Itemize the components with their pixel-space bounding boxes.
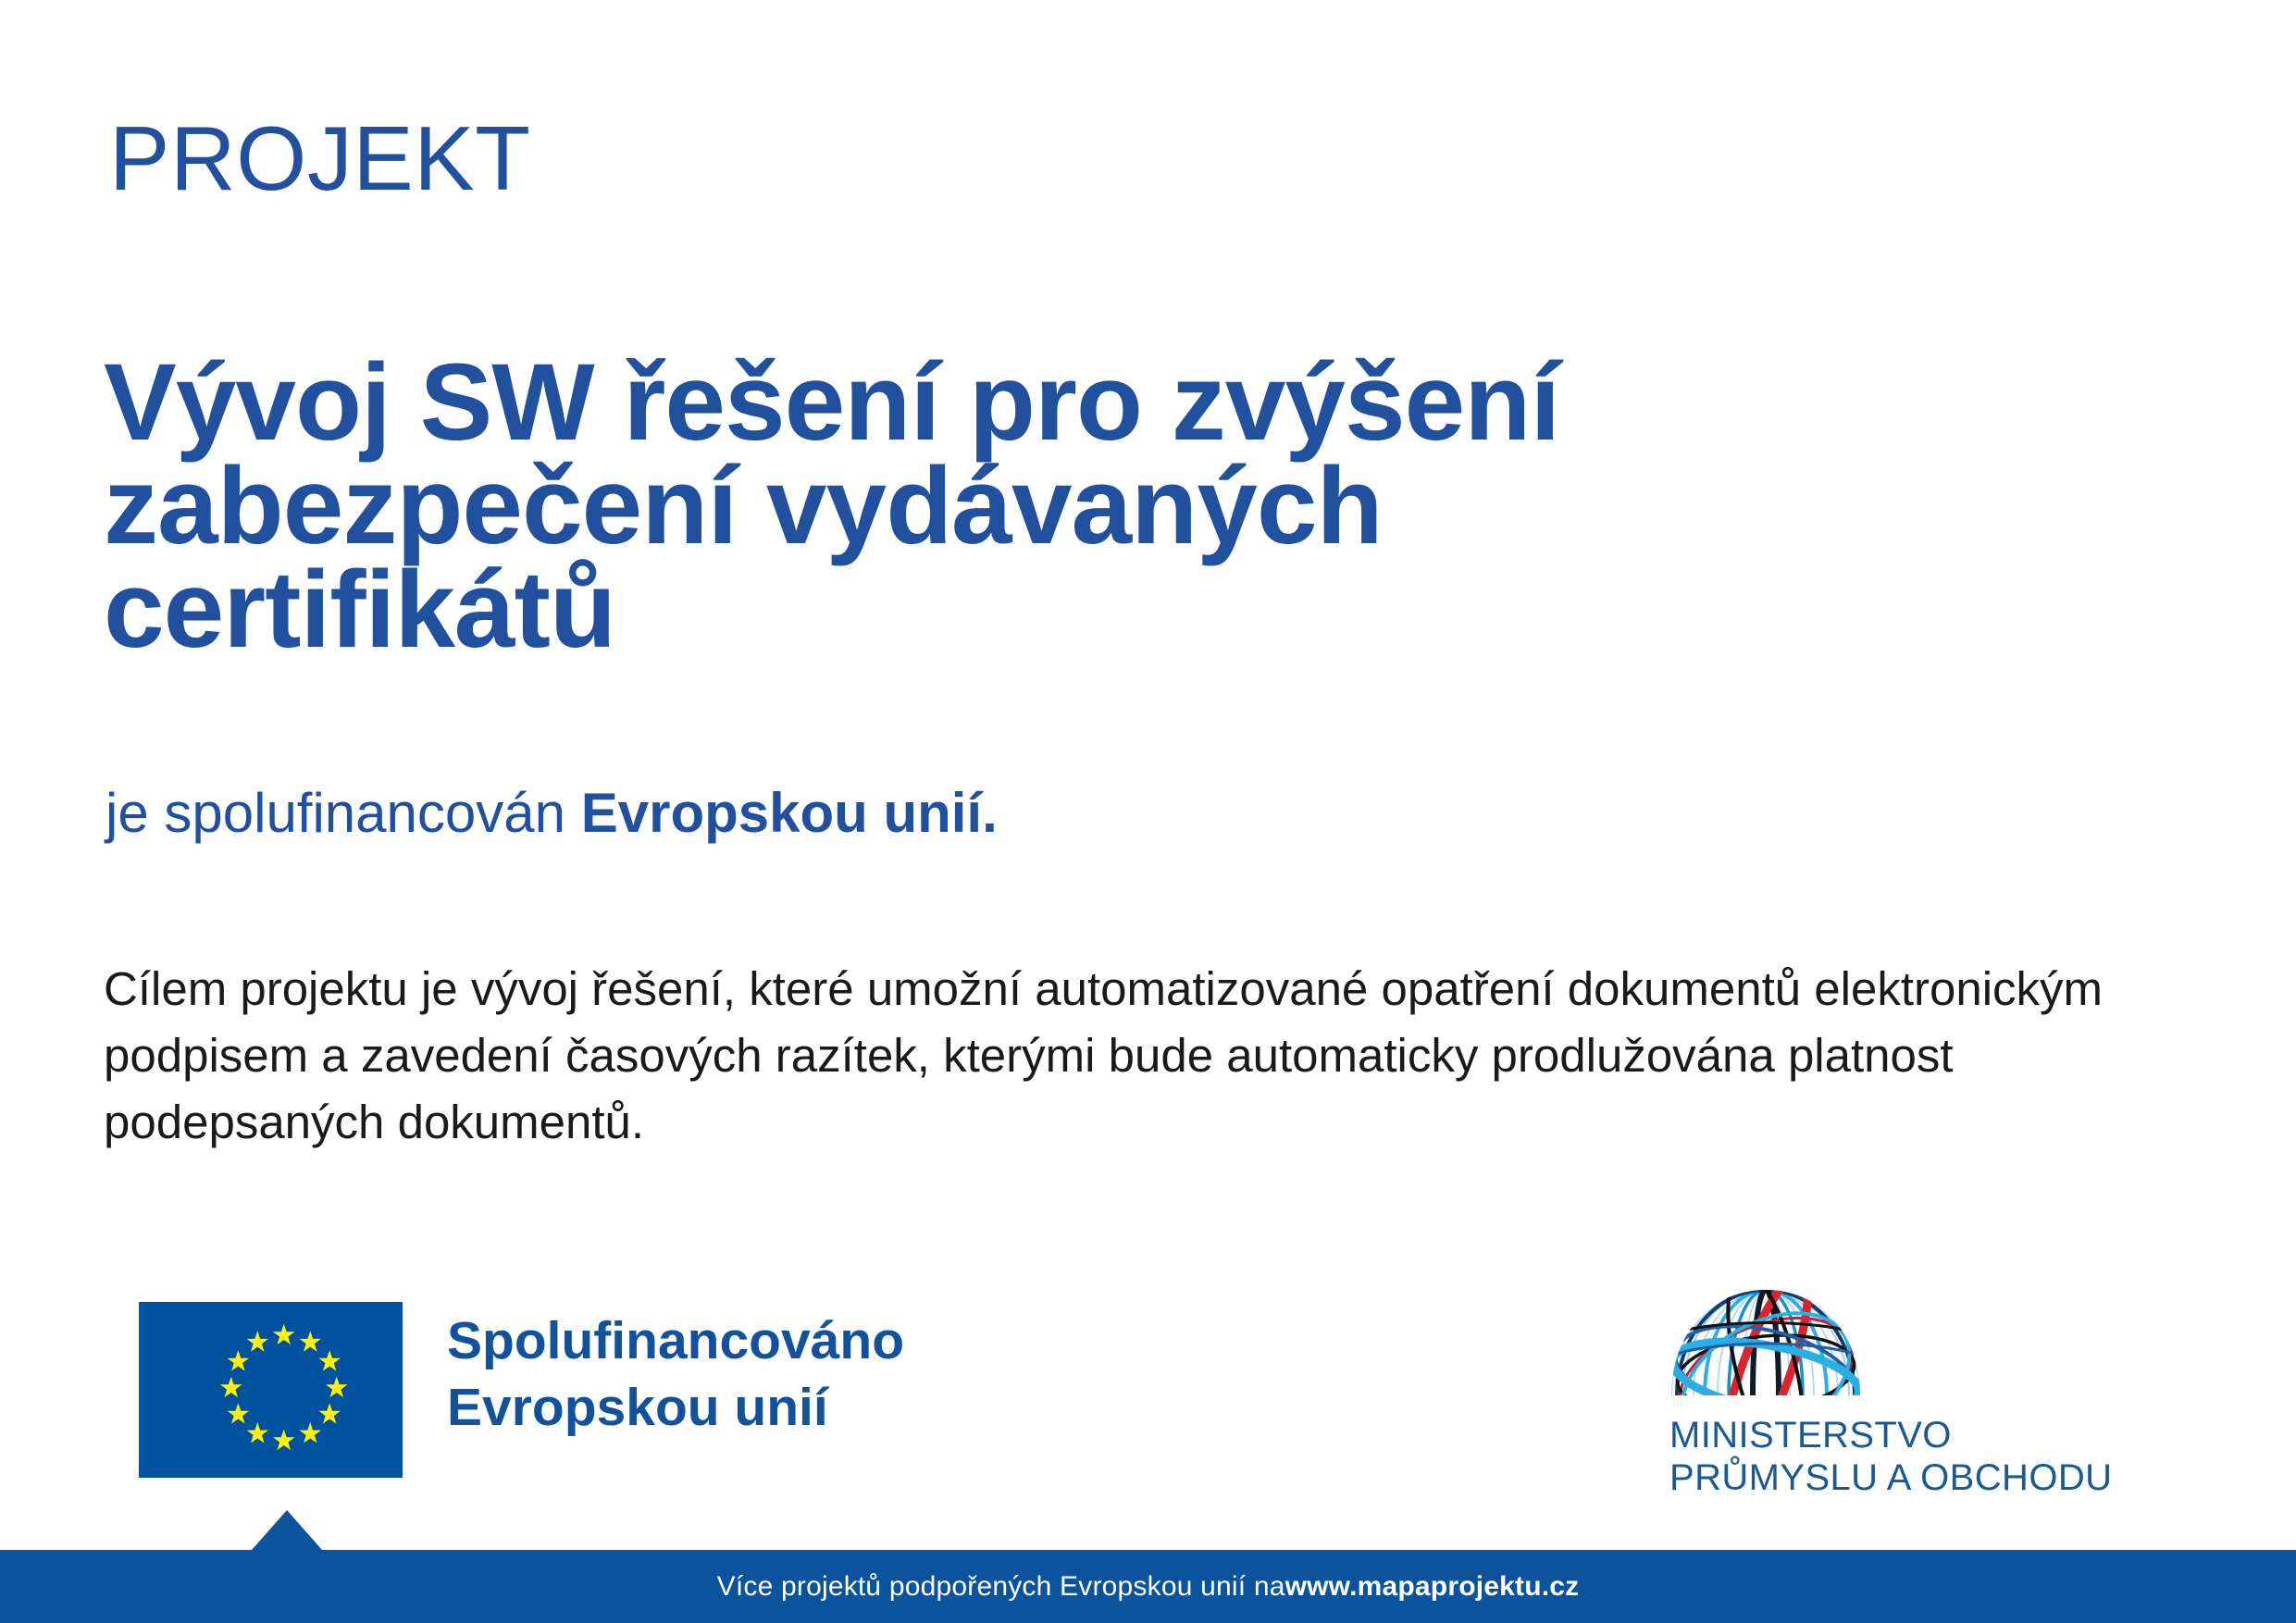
footer-note-prefix: Více projektů podpořených Evropskou unií… (717, 1571, 1285, 1603)
ministry-logo: MINISTERSTVO PRŮMYSLU A OBCHODU (1666, 1288, 2054, 1499)
eu-cofunding-line-1: Spolufinancováno (447, 1307, 904, 1374)
footer-url[interactable]: www.mapaprojektu.cz (1285, 1571, 1580, 1603)
cofinancing-statement: je spolufinancován Evropskou unií. (105, 784, 998, 842)
ministry-logo-text: MINISTERSTVO PRŮMYSLU A OBCHODU (1669, 1414, 2054, 1499)
cofinancing-statement-emphasis: Evropskou unií. (581, 782, 998, 844)
footer-notch-triangle (252, 1510, 322, 1550)
eu-cofunding-logo: Spolufinancováno Evropskou unií (139, 1302, 904, 1478)
project-description: Cílem projektu je vývoj řešení, které um… (104, 956, 2186, 1156)
page-title: Vývoj SW řešení pro zvýšení zabezpečení … (104, 351, 1843, 662)
page-kicker: PROJEKT (109, 113, 530, 204)
cofinancing-statement-prefix: je spolufinancován (105, 782, 581, 844)
globe-icon (1668, 1288, 1864, 1397)
eu-cofunding-line-2: Evropskou unií (447, 1374, 904, 1441)
footer-note: Více projektů podpořených Evropskou unií… (0, 1550, 2296, 1623)
eu-flag-icon (139, 1302, 403, 1478)
ministry-name-line-2: PRŮMYSLU A OBCHODU (1669, 1456, 2054, 1499)
poster-canvas: PROJEKT Vývoj SW řešení pro zvýšení zabe… (0, 0, 2296, 1623)
eu-cofunding-text: Spolufinancováno Evropskou unií (447, 1307, 904, 1441)
ministry-name-line-1: MINISTERSTVO (1669, 1414, 2054, 1456)
